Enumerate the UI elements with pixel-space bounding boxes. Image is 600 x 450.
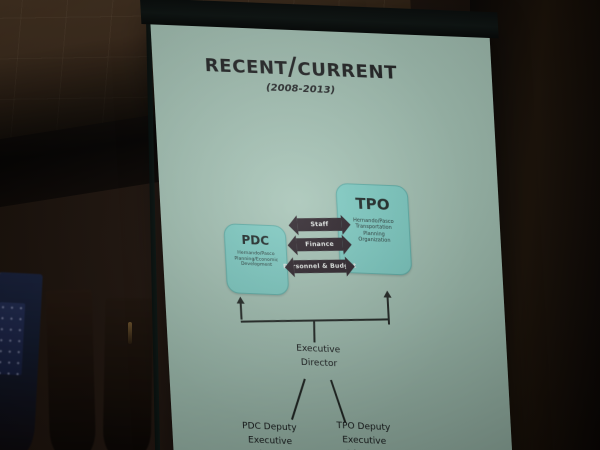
- slide-subtitle: (2008-2013): [266, 82, 336, 96]
- arrow-personnel-budget-label: Personnel & Budget: [283, 262, 357, 270]
- photo-scene: Recent/Current (2008-2013) PDC Hernando/…: [0, 0, 600, 450]
- connector-executive-director: [313, 320, 315, 342]
- arrow-finance-label: Finance: [305, 241, 334, 248]
- org-box-tpo-title: TPO: [337, 196, 408, 214]
- projection-screen: Recent/Current (2008-2013) PDC Hernando/…: [150, 16, 514, 450]
- org-box-pdc: PDC Hernando/PascoPlanning/EconomicDevel…: [223, 223, 289, 295]
- arrow-personnel-budget: Personnel & Budget: [293, 260, 346, 274]
- slide: Recent/Current (2008-2013) PDC Hernando/…: [150, 16, 514, 450]
- arrowhead-to-tpo-icon: [383, 290, 391, 297]
- slide-title: Recent/Current: [204, 48, 398, 85]
- connector-tpo-deputy: [330, 380, 346, 423]
- connector-pdc-deputy: [291, 379, 306, 420]
- arrowhead-to-pdc-icon: [236, 296, 244, 303]
- arrow-staff: Staff: [297, 218, 342, 232]
- org-box-pdc-subtitle: Hernando/PascoPlanning/EconomicDevelopme…: [226, 250, 287, 270]
- arrow-staff-label: Staff: [310, 221, 329, 228]
- node-tpo-deputy-executive-director: TPO DeputyExecutiveDirector: [324, 420, 405, 450]
- arrow-finance: Finance: [296, 238, 343, 252]
- org-box-pdc-title: PDC: [225, 233, 286, 247]
- bracket-leg-right: [387, 297, 391, 325]
- node-pdc-deputy-executive-director: PDC DeputyExecutiveDirector: [230, 420, 311, 450]
- node-executive-director: ExecutiveDirector: [272, 342, 366, 374]
- projection-screen-assembly: Recent/Current (2008-2013) PDC Hernando/…: [0, 0, 600, 450]
- bracket-leg-left: [240, 302, 243, 320]
